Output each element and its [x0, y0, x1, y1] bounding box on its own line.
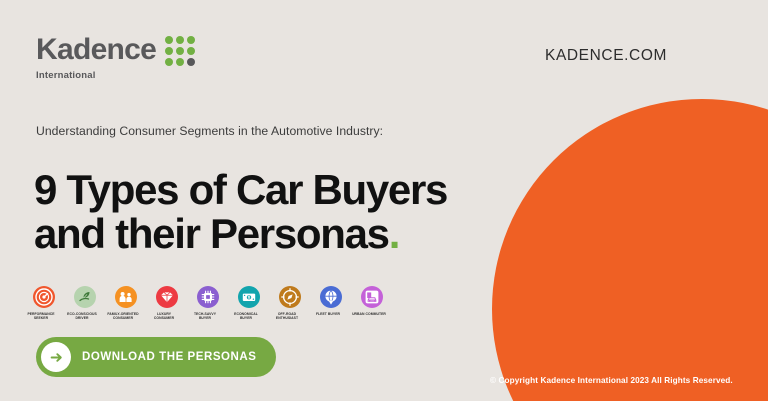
logo-dot: [165, 58, 173, 66]
city-car-icon: [361, 286, 383, 308]
persona-label: LUXURY CONSUMER: [147, 312, 181, 321]
persona-item-off-road-enthusiast[interactable]: OFF-ROAD ENTHUSIAST: [279, 286, 301, 321]
logo-dot: [187, 36, 195, 44]
logo-dot: [176, 36, 184, 44]
logo-dot: [165, 36, 173, 44]
poster-canvas: Kadence International KADENCE.COM Unders…: [0, 0, 768, 401]
chip-icon: [197, 286, 219, 308]
orange-decorative-circle: [492, 99, 768, 401]
logo-dot: [176, 47, 184, 55]
logo-wordmark: Kadence: [36, 35, 156, 65]
persona-item-urban-commuter[interactable]: URBAN COMMUTER: [361, 286, 383, 321]
copyright-text: © Copyright Kadence International 2023 A…: [490, 376, 733, 385]
persona-label: FLEET BUYER: [311, 312, 345, 316]
cta-label: DOWNLOAD THE PERSONAS: [82, 351, 256, 363]
fleet-globe-icon: [320, 286, 342, 308]
persona-label: OFF-ROAD ENTHUSIAST: [270, 312, 304, 321]
kadence-logo[interactable]: Kadence International: [36, 34, 195, 81]
persona-label: URBAN COMMUTER: [352, 312, 386, 316]
persona-label: ECO-CONSCIOUS DRIVER: [65, 312, 99, 321]
page-title: 9 Types of Car Buyers and their Personas…: [34, 168, 464, 256]
logo-row: Kadence: [36, 34, 195, 66]
persona-item-eco-conscious-driver[interactable]: ECO-CONSCIOUS DRIVER: [74, 286, 96, 321]
speedometer-icon: [33, 286, 55, 308]
persona-label: ECONOMICAL BUYER: [229, 312, 263, 321]
persona-item-family-oriented-consumer[interactable]: FAMILY-ORIENTED CONSUMER: [115, 286, 137, 321]
persona-label: FAMILY-ORIENTED CONSUMER: [106, 312, 140, 321]
logo-dot: [165, 47, 173, 55]
persona-label: PERFORMANCE SEEKER: [24, 312, 58, 321]
persona-icon-strip: PERFORMANCE SEEKER ECO-CONSCIOUS DRIVER …: [33, 286, 383, 321]
logo-dot: [187, 47, 195, 55]
persona-label: TECH-SAVVY BUYER: [188, 312, 222, 321]
persona-item-tech-savvy-buyer[interactable]: TECH-SAVVY BUYER: [197, 286, 219, 321]
logo-tagline: International: [36, 70, 96, 81]
headline-text: 9 Types of Car Buyers and their Personas: [34, 166, 447, 257]
leaf-hand-icon: [74, 286, 96, 308]
logo-dot-grid-icon: [165, 36, 195, 66]
logo-dot: [176, 58, 184, 66]
persona-item-fleet-buyer[interactable]: FLEET BUYER: [320, 286, 342, 321]
eyebrow-text: Understanding Consumer Segments in the A…: [36, 124, 383, 138]
site-url[interactable]: KADENCE.COM: [545, 47, 667, 65]
logo-dot-dark: [187, 58, 195, 66]
diamond-icon: [156, 286, 178, 308]
headline-period: .: [389, 210, 399, 257]
compass-icon: [279, 286, 301, 308]
persona-item-economical-buyer[interactable]: ECONOMICAL BUYER: [238, 286, 260, 321]
persona-item-performance-seeker[interactable]: PERFORMANCE SEEKER: [33, 286, 55, 321]
arrow-right-icon: [41, 342, 71, 372]
money-icon: [238, 286, 260, 308]
download-the-personas-button[interactable]: DOWNLOAD THE PERSONAS: [36, 337, 276, 377]
family-icon: [115, 286, 137, 308]
persona-item-luxury-consumer[interactable]: LUXURY CONSUMER: [156, 286, 178, 321]
